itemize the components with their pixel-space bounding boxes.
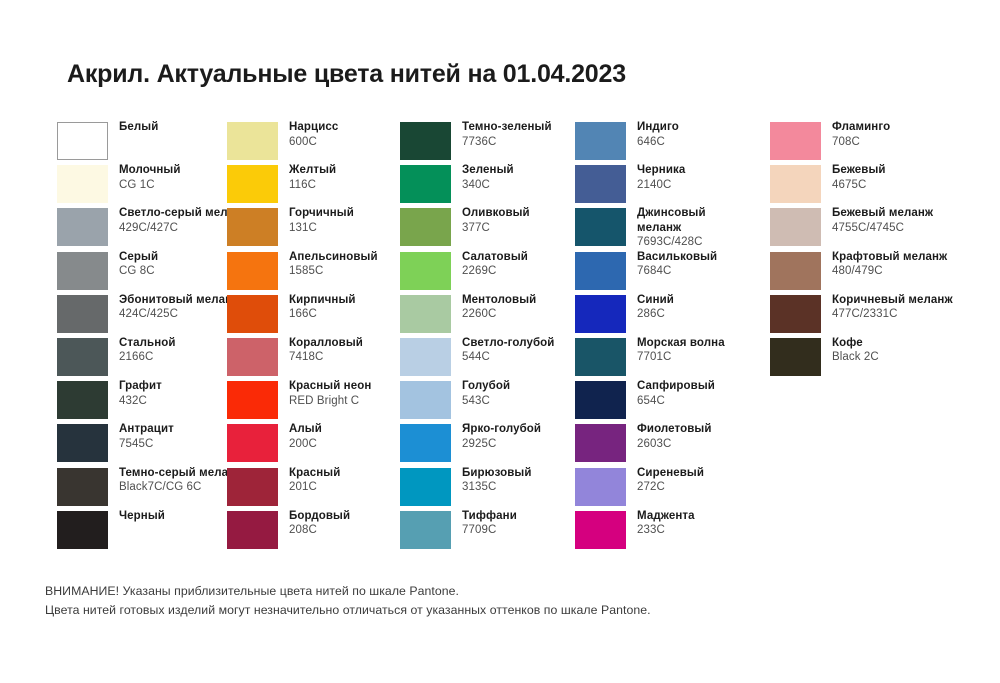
swatch-name: Джинсовый меланж — [637, 206, 752, 235]
swatch-labels: Фламинго708C — [832, 120, 1000, 149]
swatch-pantone-code: 2140C — [637, 178, 752, 193]
swatch-pantone-code: 480/479C — [832, 264, 1000, 279]
swatch-row: Индиго646C — [575, 122, 743, 165]
swatch-row: Бежевый4675C — [770, 165, 965, 208]
swatch-labels: Синий286C — [637, 293, 752, 322]
swatch-labels: Индиго646C — [637, 120, 752, 149]
swatch-name: Бежевый — [832, 163, 1000, 178]
swatch-row: Белый — [57, 122, 222, 165]
swatch-row: Ярко-голубой2925C — [400, 424, 570, 467]
color-swatch — [575, 252, 626, 290]
swatch-row: Салатовый2269C — [400, 252, 570, 295]
swatch-row: Зеленый340C — [400, 165, 570, 208]
swatch-row: Крафтовый меланж480/479C — [770, 252, 965, 295]
swatch-row: Оливковый377C — [400, 208, 570, 251]
swatch-name: Фламинго — [832, 120, 1000, 135]
color-swatch — [227, 252, 278, 290]
swatch-row: Морская волна7701C — [575, 338, 743, 381]
footer-note-line-2: Цвета нитей готовых изделий могут незнач… — [45, 601, 955, 620]
footer-note: ВНИМАНИЕ! Указаны приблизительные цвета … — [45, 582, 955, 620]
swatch-labels: Маджента233C — [637, 509, 752, 538]
color-swatch — [57, 468, 108, 506]
swatch-labels: Сиреневый272C — [637, 466, 752, 495]
swatch-name: Синий — [637, 293, 752, 308]
swatch-pantone-code: 7701C — [637, 350, 752, 365]
swatch-name: Васильковый — [637, 250, 752, 265]
swatch-row: Стальной2166C — [57, 338, 222, 381]
swatch-name: Кофе — [832, 336, 1000, 351]
swatch-row: Ментоловый2260C — [400, 295, 570, 338]
swatch-row: Джинсовый меланж7693C/428C — [575, 208, 743, 251]
color-swatch — [575, 122, 626, 160]
swatch-row: Коричневый меланж477C/2331C — [770, 295, 965, 338]
color-swatch — [400, 122, 451, 160]
swatch-pantone-code: 654C — [637, 394, 752, 409]
color-swatch — [57, 381, 108, 419]
color-swatch — [770, 165, 821, 203]
swatch-name: Маджента — [637, 509, 752, 524]
color-swatch — [400, 424, 451, 462]
color-swatch — [227, 165, 278, 203]
swatch-row: Горчичный131C — [227, 208, 392, 251]
color-swatch — [575, 165, 626, 203]
swatch-row: Коралловый7418C — [227, 338, 392, 381]
swatch-row: Антрацит7545C — [57, 424, 222, 467]
swatch-row: Черный — [57, 511, 222, 554]
color-swatch — [770, 338, 821, 376]
swatch-row: МолочныйCG 1C — [57, 165, 222, 208]
color-swatch — [770, 122, 821, 160]
swatch-row: Темно-серый меланжBlack7C/CG 6C — [57, 468, 222, 511]
swatch-pantone-code: 233C — [637, 523, 752, 538]
color-swatch — [400, 511, 451, 549]
color-swatch — [57, 424, 108, 462]
swatch-column: БелыйМолочныйCG 1CСветло-серый меланж429… — [57, 122, 222, 554]
swatch-pantone-code: 7684C — [637, 264, 752, 279]
color-swatch — [57, 165, 108, 203]
footer-note-line-1: ВНИМАНИЕ! Указаны приблизительные цвета … — [45, 582, 955, 601]
swatch-labels: КофеBlack 2C — [832, 336, 1000, 365]
color-swatch — [227, 468, 278, 506]
color-swatch — [400, 165, 451, 203]
color-swatch — [57, 252, 108, 290]
color-swatch — [57, 295, 108, 333]
swatch-pantone-code: 2603C — [637, 437, 752, 452]
color-swatch — [575, 338, 626, 376]
swatch-row: Синий286C — [575, 295, 743, 338]
swatch-labels: Бежевый меланж4755C/4745C — [832, 206, 1000, 235]
color-swatch — [575, 511, 626, 549]
color-swatch — [227, 122, 278, 160]
swatch-name: Сиреневый — [637, 466, 752, 481]
swatch-row: Черника2140C — [575, 165, 743, 208]
color-swatch — [575, 468, 626, 506]
swatch-row: Нарцисс600C — [227, 122, 392, 165]
swatch-column: Нарцисс600CЖелтый116CГорчичный131CАпельс… — [227, 122, 392, 554]
swatch-row: Голубой543C — [400, 381, 570, 424]
color-swatch — [227, 381, 278, 419]
swatch-labels: Сапфировый654C — [637, 379, 752, 408]
swatch-labels: Крафтовый меланж480/479C — [832, 250, 1000, 279]
color-swatch — [227, 338, 278, 376]
swatch-row: КофеBlack 2C — [770, 338, 965, 381]
swatch-name: Черника — [637, 163, 752, 178]
swatch-pantone-code: 4755C/4745C — [832, 221, 1000, 236]
color-swatch — [57, 511, 108, 549]
swatch-row: Бордовый208C — [227, 511, 392, 554]
color-swatch — [57, 208, 108, 246]
swatch-row: Маджента233C — [575, 511, 743, 554]
swatch-name: Крафтовый меланж — [832, 250, 1000, 265]
swatch-row: СерыйCG 8C — [57, 252, 222, 295]
swatch-row: Тиффани7709C — [400, 511, 570, 554]
swatch-row: Васильковый7684C — [575, 252, 743, 295]
color-swatch — [770, 252, 821, 290]
swatch-pantone-code: 7693C/428C — [637, 235, 752, 250]
color-swatch — [770, 208, 821, 246]
swatch-labels: Бежевый4675C — [832, 163, 1000, 192]
color-swatch — [400, 208, 451, 246]
swatch-row: Светло-серый меланж429C/427C — [57, 208, 222, 251]
swatch-row: Графит432C — [57, 381, 222, 424]
swatch-name: Коричневый меланж — [832, 293, 1000, 308]
swatch-name: Индиго — [637, 120, 752, 135]
color-swatch — [227, 424, 278, 462]
swatch-row: Фиолетовый2603C — [575, 424, 743, 467]
color-swatch — [575, 295, 626, 333]
swatch-pantone-code: 4675C — [832, 178, 1000, 193]
color-swatch — [400, 295, 451, 333]
swatch-column: Фламинго708CБежевый4675CБежевый меланж47… — [770, 122, 965, 381]
color-chart-page: Акрил. Актуальные цвета нитей на 01.04.2… — [0, 0, 1000, 683]
page-title: Акрил. Актуальные цвета нитей на 01.04.2… — [67, 60, 626, 89]
color-swatch — [57, 122, 108, 160]
swatch-row: Фламинго708C — [770, 122, 965, 165]
swatch-row: Темно-зеленый7736C — [400, 122, 570, 165]
swatch-row: Желтый116C — [227, 165, 392, 208]
color-swatch — [575, 381, 626, 419]
swatch-labels: Васильковый7684C — [637, 250, 752, 279]
swatch-row: Сапфировый654C — [575, 381, 743, 424]
swatch-row: Бежевый меланж4755C/4745C — [770, 208, 965, 251]
swatch-row: Сиреневый272C — [575, 468, 743, 511]
swatch-row: Светло-голубой544C — [400, 338, 570, 381]
swatch-column: Темно-зеленый7736CЗеленый340CОливковый37… — [400, 122, 570, 554]
swatch-pantone-code: 286C — [637, 307, 752, 322]
color-swatch — [227, 208, 278, 246]
swatch-row: Красный201C — [227, 468, 392, 511]
swatch-name: Фиолетовый — [637, 422, 752, 437]
color-swatch — [57, 338, 108, 376]
swatch-labels: Морская волна7701C — [637, 336, 752, 365]
swatch-name: Морская волна — [637, 336, 752, 351]
swatch-labels: Джинсовый меланж7693C/428C — [637, 206, 752, 250]
swatch-row: Красный неонRED Bright C — [227, 381, 392, 424]
swatch-pantone-code: 477C/2331C — [832, 307, 1000, 322]
swatch-pantone-code: 708C — [832, 135, 1000, 150]
color-swatch — [400, 381, 451, 419]
color-swatch — [227, 295, 278, 333]
swatch-pantone-code: 646C — [637, 135, 752, 150]
swatch-name: Бежевый меланж — [832, 206, 1000, 221]
color-swatch — [575, 424, 626, 462]
swatch-labels: Коричневый меланж477C/2331C — [832, 293, 1000, 322]
color-swatch — [770, 295, 821, 333]
swatch-pantone-code: 272C — [637, 480, 752, 495]
swatch-row: Алый200C — [227, 424, 392, 467]
swatch-row: Бирюзовый3135C — [400, 468, 570, 511]
swatch-pantone-code: Black 2C — [832, 350, 1000, 365]
swatch-row: Апельсиновый1585C — [227, 252, 392, 295]
color-swatch — [400, 338, 451, 376]
swatch-labels: Фиолетовый2603C — [637, 422, 752, 451]
swatch-labels: Черника2140C — [637, 163, 752, 192]
color-swatch — [400, 468, 451, 506]
swatch-name: Сапфировый — [637, 379, 752, 394]
swatch-row: Эбонитовый меланж424C/425C — [57, 295, 222, 338]
color-swatch — [400, 252, 451, 290]
color-swatch — [575, 208, 626, 246]
swatch-column: Индиго646CЧерника2140CДжинсовый меланж76… — [575, 122, 743, 554]
swatch-row: Кирпичный166C — [227, 295, 392, 338]
color-swatch — [227, 511, 278, 549]
